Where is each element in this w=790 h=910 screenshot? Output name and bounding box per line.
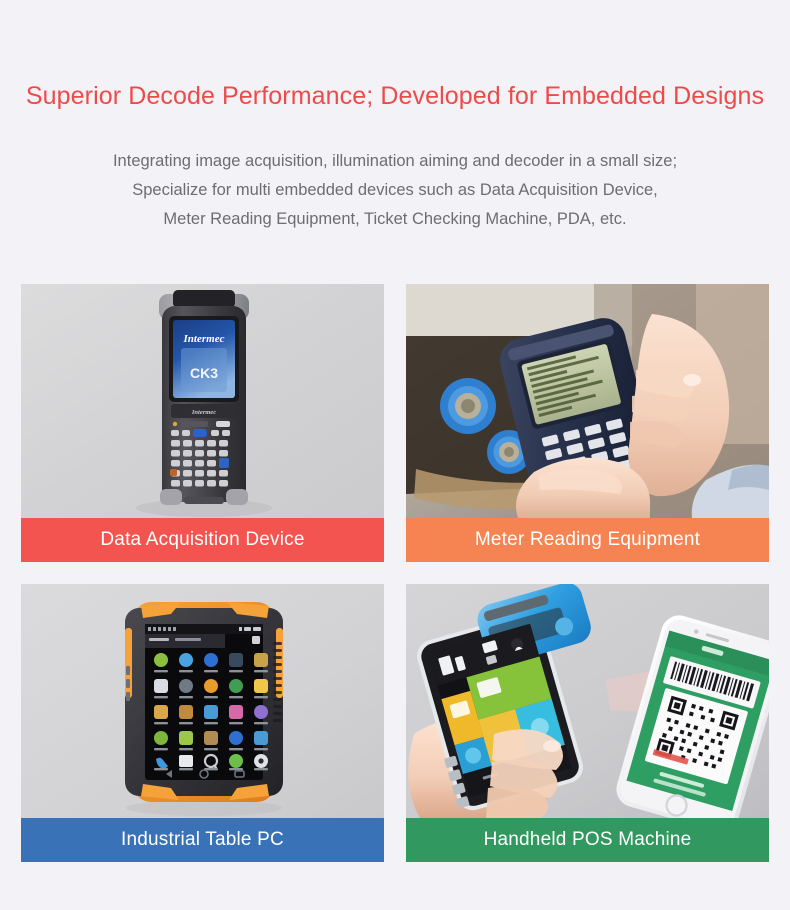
photo-data-acquisition-device: Intermec CK3 Intermec bbox=[21, 284, 384, 518]
card-row-bottom: Industrial Table PC bbox=[21, 584, 769, 862]
svg-text:Intermec: Intermec bbox=[191, 409, 216, 416]
photo-industrial-table-pc bbox=[21, 584, 384, 818]
page-subcopy: Integrating image acquisition, illuminat… bbox=[0, 147, 790, 234]
card-handheld-pos-machine[interactable]: Handheld POS Machine bbox=[406, 584, 769, 862]
promo-page: Superior Decode Performance; Developed f… bbox=[0, 0, 790, 910]
page-title: Superior Decode Performance; Developed f… bbox=[0, 80, 790, 112]
card-industrial-table-pc[interactable]: Industrial Table PC bbox=[21, 584, 384, 862]
photo-meter-reading-equipment bbox=[406, 284, 769, 518]
card-row-top: Intermec CK3 Intermec bbox=[21, 284, 769, 562]
caption-data-acquisition-device: Data Acquisition Device bbox=[21, 518, 384, 562]
product-card-grid: Intermec CK3 Intermec bbox=[21, 284, 769, 884]
caption-meter-reading-equipment: Meter Reading Equipment bbox=[406, 518, 769, 562]
caption-industrial-table-pc: Industrial Table PC bbox=[21, 818, 384, 862]
card-meter-reading-equipment[interactable]: Meter Reading Equipment bbox=[406, 284, 769, 562]
svg-text:CK3: CK3 bbox=[190, 365, 218, 381]
svg-text:Intermec: Intermec bbox=[183, 333, 225, 345]
photo-handheld-pos-machine bbox=[406, 584, 769, 818]
caption-handheld-pos-machine: Handheld POS Machine bbox=[406, 818, 769, 862]
subcopy-line-2: Specialize for multi embedded devices su… bbox=[0, 176, 790, 205]
subcopy-line-3: Meter Reading Equipment, Ticket Checking… bbox=[0, 205, 790, 234]
subcopy-line-1: Integrating image acquisition, illuminat… bbox=[0, 147, 790, 176]
card-data-acquisition-device[interactable]: Intermec CK3 Intermec bbox=[21, 284, 384, 562]
